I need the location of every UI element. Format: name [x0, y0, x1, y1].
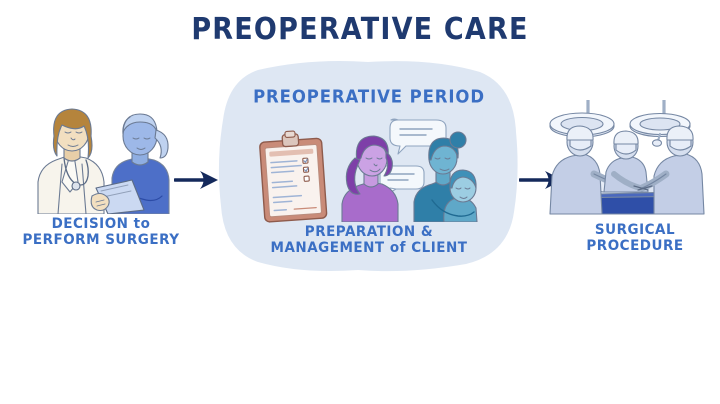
diagram-canvas: PREOPERATIVE CARE: [0, 0, 720, 404]
step-left-label: DECISION to PERFORM SURGERY: [6, 216, 196, 248]
step-right-label-line2: PROCEDURE: [556, 238, 714, 254]
arrow-right-icon-left: [174, 168, 220, 192]
operating-room-illustration: [542, 100, 710, 218]
doctor-and-nurse-illustration: [36, 92, 172, 214]
step-right-label: SURGICAL PROCEDURE: [556, 222, 714, 254]
clipboard-illustration: [254, 130, 336, 224]
blob-caption: PREPARATION & MANAGEMENT of CLIENT: [218, 224, 520, 256]
blob-caption-line2: MANAGEMENT of CLIENT: [218, 240, 520, 256]
page-title: PREOPERATIVE CARE: [0, 12, 720, 47]
nurse-parent-child-illustration: [336, 118, 482, 222]
step-left-label-line2: PERFORM SURGERY: [6, 232, 196, 248]
blob-caption-line1: PREPARATION &: [218, 224, 520, 240]
step-right-label-line1: SURGICAL: [556, 222, 714, 238]
step-left-label-line1: DECISION to: [6, 216, 196, 232]
blob-heading: PREOPERATIVE PERIOD: [218, 86, 520, 107]
